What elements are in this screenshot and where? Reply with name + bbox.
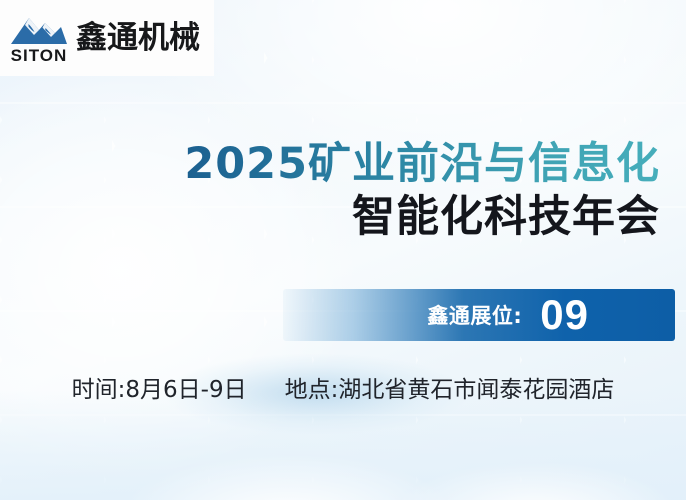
event-time: 时间:8月6日-9日 xyxy=(72,370,247,404)
logo-chinese-name: 鑫通机械 xyxy=(76,23,200,54)
logo-latin-name: SITON xyxy=(11,47,68,64)
brand-logo: SITON 鑫通机械 xyxy=(0,0,214,76)
booth-number: 09 xyxy=(540,294,589,336)
title-line-2: 智能化科技年会 xyxy=(20,192,660,243)
event-info-row: 时间:8月6日-9日 地点:湖北省黄石市闻泰花园酒店 xyxy=(0,370,686,404)
booth-banner: 鑫通展位: 09 xyxy=(283,289,675,341)
booth-label: 鑫通展位: xyxy=(427,300,522,330)
poster-title: 2025矿业前沿与信息化 智能化科技年会 xyxy=(20,140,660,243)
title-line-1: 2025矿业前沿与信息化 xyxy=(20,140,660,190)
siton-mountain-icon: SITON xyxy=(8,12,70,64)
event-poster: SITON 鑫通机械 2025矿业前沿与信息化 智能化科技年会 鑫通展位: 09… xyxy=(0,0,686,500)
left-glow-decoration xyxy=(0,60,360,480)
bottom-haze-decoration xyxy=(0,390,686,500)
event-location: 地点:湖北省黄石市闻泰花园酒店 xyxy=(285,370,615,404)
